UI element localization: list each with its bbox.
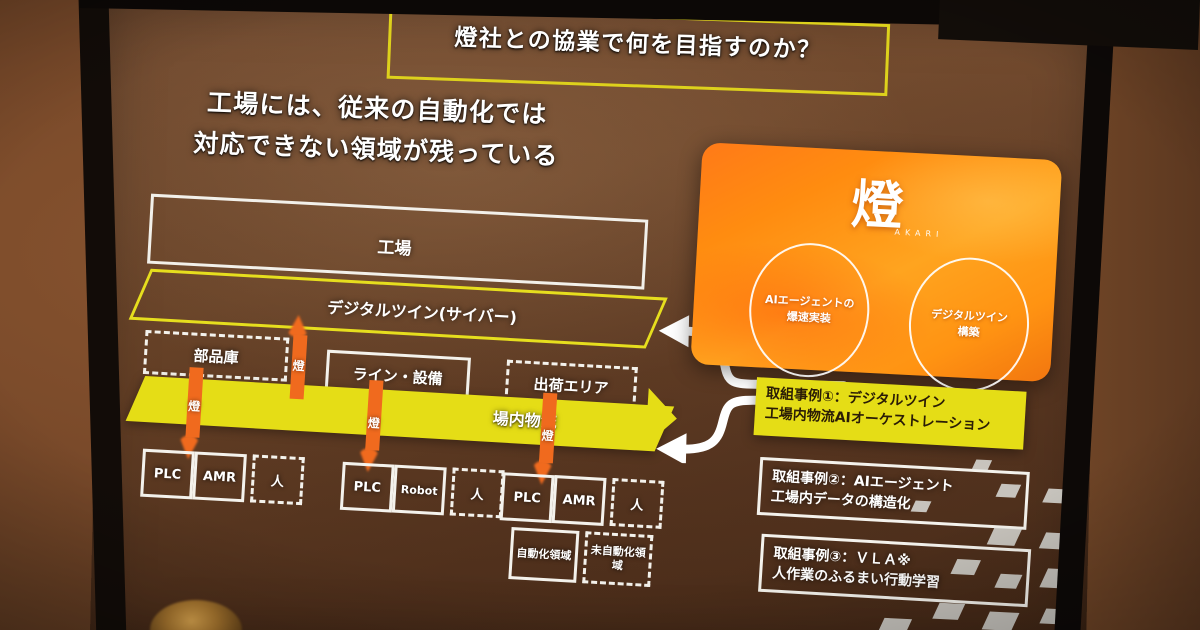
legend-automated-area: 自動化領域 (508, 527, 579, 583)
cell-plc-2: PLC (340, 462, 395, 513)
legend-automated-label: 自動化領域 (516, 547, 572, 564)
cell-plc-1: PLC (140, 449, 195, 500)
arrow-akari-mark-3: 燈 (536, 426, 559, 444)
cell-robot-2: Robot (392, 465, 447, 516)
arrow-akari-mark-0: 燈 (287, 357, 310, 375)
cell-human-1: 人 (250, 454, 305, 505)
orange-arrow-down-3: 燈 (533, 392, 561, 485)
cell-amr-1: AMR (192, 451, 247, 502)
legend-non-automated-label: 未自動化領域 (586, 544, 650, 575)
area-box-parts-warehouse: 部品庫 (143, 330, 289, 382)
legend-non-automated-area: 未自動化領域 (582, 531, 653, 587)
cell-human-3: 人 (610, 478, 665, 529)
orange-arrow-down-1: 燈 (180, 367, 207, 460)
photo-of-projected-slide: 燈社との協業で何を目指すのか？ 工場には、従来の自動化では 対応できない領域が残… (0, 0, 1200, 630)
cell-amr-3: AMR (552, 475, 607, 526)
cell-human-2: 人 (450, 468, 505, 519)
cell-plc-3: PLC (500, 472, 555, 523)
arrow-akari-mark-1: 燈 (183, 397, 206, 415)
projection-screen: 燈社との協業で何を目指すのか？ 工場には、従来の自動化では 対応できない領域が残… (90, 0, 1100, 630)
arrow-akari-mark-2: 燈 (362, 414, 385, 432)
orange-arrow-down-2: 燈 (360, 380, 388, 473)
